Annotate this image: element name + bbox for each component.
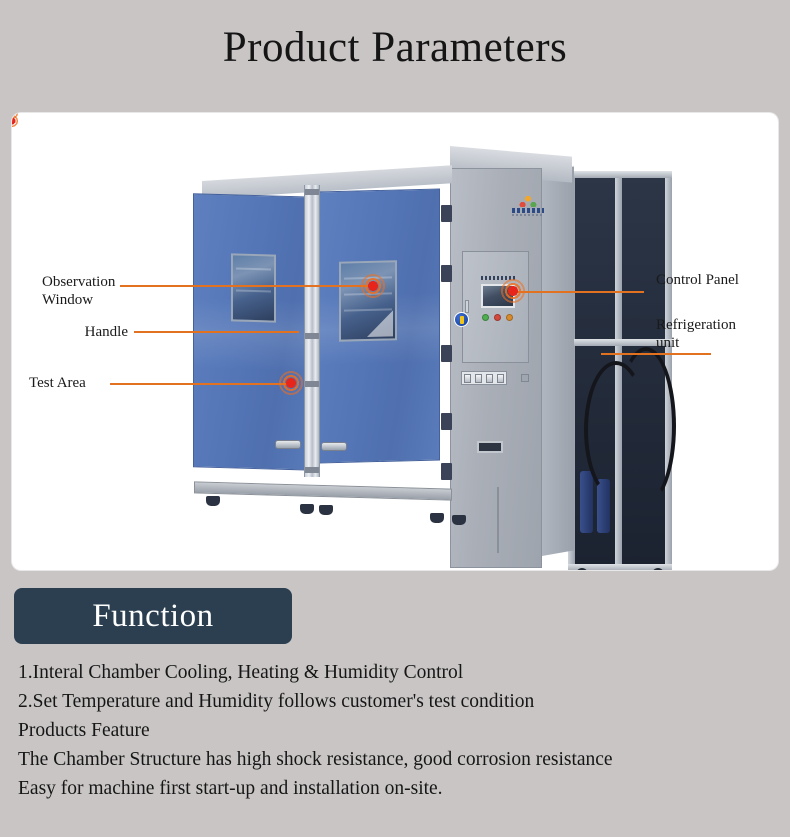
callout-label-handle: Handle [0,324,128,342]
leader-line-observation-window [120,285,372,287]
cabinet-side-face [542,166,574,556]
callout-label-test-area: Test Area [29,375,86,393]
power-led-icon [482,314,489,321]
alarm-led-icon [494,314,501,321]
window-mullion [236,268,271,271]
control-cabinet-graphic [450,146,576,570]
function-banner: Function [14,588,292,644]
door-handle-right[interactable] [321,442,347,451]
panel-latch-icon[interactable] [465,300,469,313]
leveling-foot [452,515,466,525]
window-glare [367,310,393,337]
marker-test-area [278,370,304,396]
frame-rail-top [568,171,672,178]
leader-line-handle [134,331,299,333]
door-hinge [441,265,452,282]
callout-label-refrigeration-unit: Refrigeration unit [656,317,736,352]
feature-line: 1.Interal Chamber Cooling, Heating & Hum… [18,658,780,687]
door-hinge [441,413,452,430]
refrigeration-unit-graphic [568,171,672,570]
manufacturer-logo [512,196,544,218]
leader-line-test-area [110,383,290,385]
breaker-switch[interactable] [475,374,482,383]
marker-refrigeration-unit [12,113,20,129]
leveling-foot [430,513,444,523]
leader-line-refrigeration-unit [601,353,711,355]
seam-clip [305,333,319,339]
safety-sticker-icon [454,312,469,327]
observation-window-left [231,253,276,322]
run-led-icon [506,314,513,321]
logo-subtext [512,214,544,216]
breaker-switch[interactable] [464,374,471,383]
marker-control-panel [500,278,526,304]
door-hinge [441,345,452,362]
breaker-switch-row[interactable] [461,371,507,385]
door-handle-left[interactable] [275,440,301,449]
cabinet-front-face [450,168,542,568]
compressor-unit [580,471,593,533]
vent-slot [477,441,503,453]
leader-line-control-panel [512,291,644,293]
callout-label-observation-window: Observation Window [42,274,115,309]
function-banner-label: Function [92,598,213,635]
observation-window-right [339,260,397,341]
feature-line: The Chamber Structure has high shock res… [18,745,780,774]
seam-clip [305,381,319,387]
feature-line: Products Feature [18,716,780,745]
leveling-foot [319,505,333,515]
seam-clip [305,467,319,473]
breaker-switch[interactable] [486,374,493,383]
window-mullion [236,290,271,293]
indicator-light-group [482,314,513,321]
door-center-seam [304,185,320,477]
callout-label-control-panel: Control Panel [656,272,739,290]
seam-clip [305,189,319,195]
logo-mark-icon [519,196,537,207]
leveling-foot [300,504,314,514]
cabinet-seam [497,487,499,553]
leveling-foot [206,496,220,506]
page-title: Product Parameters [0,0,790,69]
logo-wordmark [512,208,544,213]
marker-observation-window [360,273,386,299]
door-hinge [441,463,452,480]
feature-line: Easy for machine first start-up and inst… [18,774,780,803]
breaker-switch[interactable] [497,374,504,383]
control-panel-door[interactable] [462,251,529,363]
feature-line: 2.Set Temperature and Humidity follows c… [18,687,780,716]
function-feature-list: 1.Interal Chamber Cooling, Heating & Hum… [18,658,780,803]
nameplate-icon [521,374,529,382]
door-hinge [441,205,452,222]
refrigerant-hose [616,347,676,505]
